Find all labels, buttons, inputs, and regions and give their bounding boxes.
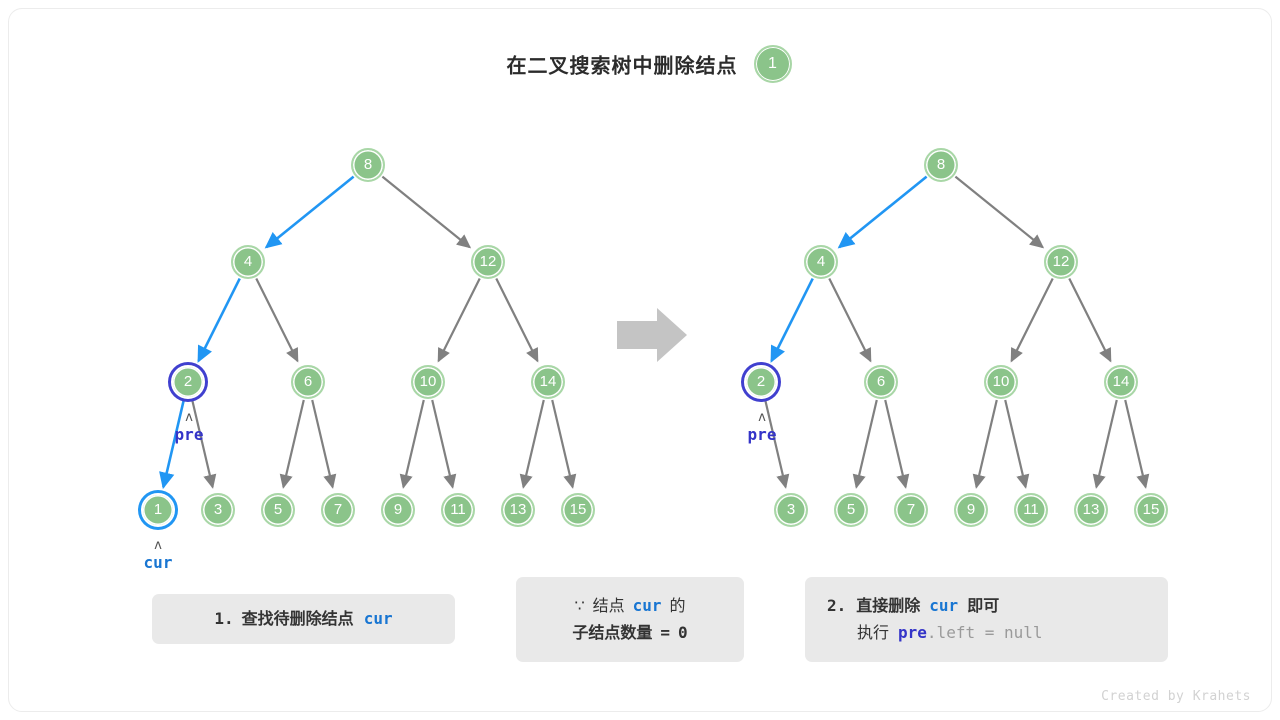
tree-node[interactable]: 11 <box>441 493 475 527</box>
tree-edge <box>885 400 905 487</box>
tree-edge <box>1005 400 1025 487</box>
tree-node[interactable]: 11 <box>1014 493 1048 527</box>
caption-action-code: .left = null <box>927 623 1043 642</box>
tree-node[interactable]: 4 <box>804 245 838 279</box>
tree-node[interactable]: 12 <box>1044 245 1078 279</box>
tree-node[interactable]: 5 <box>261 493 295 527</box>
tree-edge <box>439 279 480 361</box>
tree-node[interactable]: 6 <box>291 365 325 399</box>
tree-node[interactable]: 2 <box>171 365 205 399</box>
pointer-label-pre: ʌpre <box>149 413 229 444</box>
tree-node[interactable]: 12 <box>471 245 505 279</box>
caption-reason-suffix: 的 <box>670 598 686 615</box>
caption-find-node: 1.查找待删除结点cur <box>152 594 455 644</box>
tree-edge-highlight <box>199 279 240 361</box>
tree-edge-highlight <box>839 177 926 248</box>
tree-node[interactable]: 14 <box>1104 365 1138 399</box>
tree-edge-highlight <box>772 279 813 361</box>
tree-node[interactable]: 10 <box>984 365 1018 399</box>
tree-node[interactable]: 9 <box>381 493 415 527</box>
tree-edge <box>552 400 572 487</box>
tree-node[interactable]: 6 <box>864 365 898 399</box>
tree-edge <box>523 400 543 487</box>
caption-action-exec: 执行 <box>857 625 889 642</box>
caption-reason-prefix: 结点 <box>593 598 625 615</box>
caption-find-index: 1. <box>214 609 233 628</box>
caption-find-var: cur <box>364 609 393 628</box>
pointer-label-cur: ʌcur <box>118 541 198 572</box>
tree-node[interactable]: 15 <box>561 493 595 527</box>
caption-reason: ∵结点cur的 子结点数量=0 <box>516 577 744 662</box>
pointer-label-pre: ʌpre <box>722 413 802 444</box>
tree-node[interactable]: 7 <box>894 493 928 527</box>
caption-reason-value: 0 <box>678 623 688 642</box>
caption-reason-metric: 子结点数量 <box>572 625 652 642</box>
caption-reason-var: cur <box>633 596 662 615</box>
pointer-caret-icon: ʌ <box>149 413 229 423</box>
tree-node[interactable]: 13 <box>501 493 535 527</box>
tree-node[interactable]: 15 <box>1134 493 1168 527</box>
tree-node[interactable]: 9 <box>954 493 988 527</box>
tree-edge <box>976 400 996 487</box>
tree-edge <box>283 400 303 487</box>
tree-edge <box>382 177 469 248</box>
tree-edge <box>1012 279 1053 361</box>
diagram-card: 在二叉搜索树中删除结点1 841226101413579111315ʌpreʌc… <box>8 8 1272 712</box>
tree-edge <box>432 400 452 487</box>
tree-node[interactable]: 10 <box>411 365 445 399</box>
pointer-caret-icon: ʌ <box>118 541 198 551</box>
caption-action-index: 2. <box>827 596 846 615</box>
tree-node[interactable]: 3 <box>774 493 808 527</box>
credit-text: Created by Krahets <box>1101 689 1251 704</box>
tree-edge <box>829 279 870 361</box>
tree-edge <box>1069 279 1110 361</box>
title-text: 在二叉搜索树中删除结点 <box>507 56 738 78</box>
caption-action: 2.直接删除cur即可 执行pre.left = null <box>805 577 1168 662</box>
tree-node[interactable]: 8 <box>351 148 385 182</box>
caption-action-suffix: 即可 <box>967 598 999 615</box>
transition-arrow-icon <box>617 308 687 362</box>
tree-node[interactable]: 2 <box>744 365 778 399</box>
caption-find-text: 查找待删除结点 <box>242 611 354 628</box>
tree-edge <box>496 279 537 361</box>
page-title: 在二叉搜索树中删除结点1 <box>9 45 1272 83</box>
pointer-name: pre <box>149 426 229 444</box>
tree-node[interactable]: 14 <box>531 365 565 399</box>
pointer-caret-icon: ʌ <box>722 413 802 423</box>
tree-edge <box>403 400 423 487</box>
tree-edge <box>856 400 876 487</box>
caption-action-pre-var: pre <box>898 623 927 642</box>
caption-action-var: cur <box>929 596 958 615</box>
pointer-name: pre <box>722 426 802 444</box>
tree-node[interactable]: 8 <box>924 148 958 182</box>
tree-node[interactable]: 7 <box>321 493 355 527</box>
tree-node[interactable]: 1 <box>141 493 175 527</box>
tree-edge <box>1096 400 1116 487</box>
tree-node[interactable]: 5 <box>834 493 868 527</box>
caption-reason-eq: = <box>660 623 670 642</box>
tree-edge-highlight <box>266 177 353 248</box>
because-symbol: ∵ <box>574 598 584 615</box>
title-step-badge: 1 <box>754 45 792 83</box>
caption-action-prefix: 直接删除 <box>856 598 920 615</box>
tree-node[interactable]: 13 <box>1074 493 1108 527</box>
tree-node[interactable]: 4 <box>231 245 265 279</box>
diagram-stage: 在二叉搜索树中删除结点1 841226101413579111315ʌpreʌc… <box>9 9 1272 712</box>
tree-edge <box>955 177 1042 248</box>
tree-node[interactable]: 3 <box>201 493 235 527</box>
pointer-name: cur <box>118 554 198 572</box>
tree-edge <box>312 400 332 487</box>
tree-edge <box>256 279 297 361</box>
tree-edge <box>1125 400 1145 487</box>
